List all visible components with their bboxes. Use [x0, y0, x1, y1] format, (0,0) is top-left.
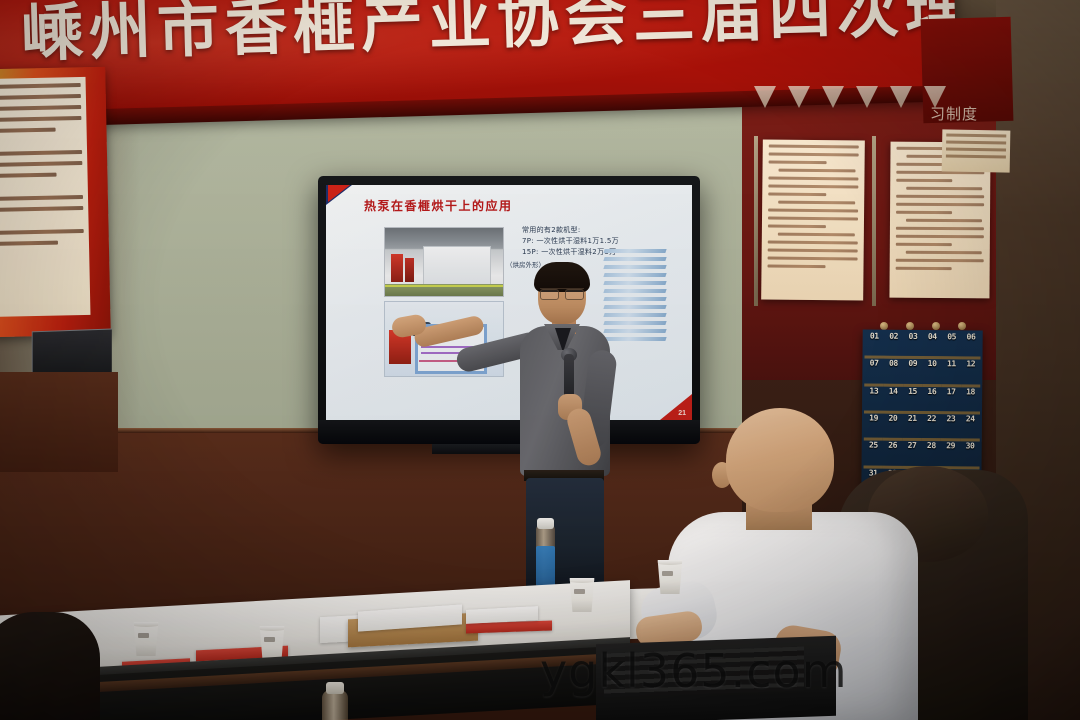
- pocket-slot[interactable]: 18: [961, 387, 981, 415]
- pocket-number: 14: [889, 386, 898, 395]
- poster-text-line: [768, 185, 858, 189]
- flag-shape: [754, 86, 776, 108]
- pocket-slot[interactable]: 01: [864, 331, 884, 358]
- pocket-number: 03: [909, 332, 918, 341]
- pocket-number: 13: [869, 386, 878, 395]
- pocket-number: 11: [947, 360, 956, 369]
- poster-text-line: [768, 249, 858, 253]
- pocket-number: 22: [927, 414, 936, 423]
- flag-shape: [856, 86, 878, 108]
- pocket-number: 07: [870, 359, 879, 368]
- audience-member-left: [0, 612, 100, 720]
- slide-corner-decor-red: [328, 185, 350, 202]
- poster-text-line: [896, 259, 984, 263]
- pocket-slot[interactable]: 11: [942, 359, 962, 386]
- pocket-number: 02: [889, 332, 898, 341]
- water-bottle-label: [536, 546, 555, 586]
- poster-text-line: [0, 195, 83, 201]
- presenter: [500, 258, 640, 588]
- pocket-slot[interactable]: 10: [922, 359, 942, 386]
- cup-logo: [264, 637, 275, 642]
- poster-note: [942, 129, 1011, 172]
- poster-text-line: [768, 225, 826, 229]
- pocket-number: 06: [967, 332, 976, 341]
- conference-room-photo: 嵊州市香榧产业协会三届四次理事（扩大）会 习制度: [0, 0, 1080, 720]
- pocket-number: 01: [870, 332, 879, 341]
- cup-logo: [138, 633, 149, 638]
- poster-text-line: [896, 243, 952, 246]
- pocket-slot[interactable]: 02: [884, 332, 904, 359]
- paper-cup: [568, 578, 596, 612]
- pocket-slot[interactable]: 24: [960, 414, 980, 441]
- glasses-icon: [540, 288, 584, 298]
- poster-text-line: [769, 161, 827, 165]
- cup-logo: [662, 571, 673, 576]
- poster-text-line: [768, 257, 858, 261]
- poster-text-line: [768, 209, 858, 213]
- poster-text-line: [779, 169, 856, 173]
- flag-shape: [890, 86, 912, 108]
- paper-cup: [132, 622, 160, 656]
- pocket-slot[interactable]: 17: [941, 387, 961, 415]
- poster-text-line: [0, 173, 56, 178]
- pocket-slot[interactable]: 06: [961, 332, 981, 359]
- poster-divider-mid: [872, 136, 876, 306]
- water-bottle-cap: [537, 518, 554, 529]
- poster-text-line: [768, 241, 858, 245]
- poster-text-line: [0, 105, 81, 111]
- poster-text-gap: [0, 183, 83, 193]
- paper-cup: [656, 560, 684, 594]
- pocket-slot[interactable]: 04: [922, 332, 942, 359]
- pocket-slot[interactable]: 07: [864, 359, 884, 386]
- slide-body-line: 7P: 一次性烘干湿料1万1.5万: [522, 236, 652, 247]
- cup-rim: [258, 626, 286, 631]
- watermark: ygkl365.com: [540, 644, 848, 698]
- poster-text-line: [0, 241, 58, 246]
- note-line: [946, 154, 1006, 158]
- water-bottle-foreground-cap: [326, 682, 344, 694]
- poster-text-line: [906, 187, 982, 191]
- poster-text-line: [896, 195, 984, 199]
- pocket-number: 08: [889, 359, 898, 368]
- poster-text-gap: [0, 217, 84, 227]
- pocket-slot[interactable]: 03: [903, 332, 923, 359]
- pocket-chart-hook: [932, 322, 940, 330]
- poster-text-line: [896, 203, 984, 207]
- paper-cup: [258, 626, 286, 660]
- poster-text-line: [896, 227, 984, 231]
- heat-pump-unit: [405, 258, 414, 282]
- poster-text-line: [896, 235, 984, 239]
- pocket-number: 23: [946, 414, 955, 423]
- poster-text-line: [896, 267, 952, 270]
- flag-shape: [788, 86, 810, 108]
- right-poster-1: [761, 139, 865, 300]
- water-bottle-foreground: [322, 690, 348, 720]
- cup-logo: [574, 589, 585, 594]
- flag-shape: [822, 86, 844, 108]
- left-poster-page: [0, 77, 90, 317]
- poster-text-gap: [0, 138, 82, 148]
- poster-text-line: [896, 211, 952, 214]
- pocket-number: 17: [947, 387, 956, 396]
- pocket-number: 18: [966, 387, 975, 396]
- slide-photo-drying-room-exterior: [384, 227, 504, 297]
- slide-body-line: 常用的有2款机型:: [522, 225, 652, 236]
- pocket-number: 24: [966, 414, 975, 423]
- pocket-chart-hook: [958, 322, 966, 330]
- poster-text-line: [769, 153, 859, 157]
- ground-line: [385, 285, 503, 287]
- cup-rim: [132, 622, 160, 627]
- pocket-slot[interactable]: 09: [903, 359, 923, 386]
- cup-rim: [568, 578, 596, 583]
- poster-text-line: [768, 193, 826, 197]
- audience-head: [726, 408, 834, 512]
- note-line: [946, 133, 1006, 137]
- poster-text-line: [0, 83, 81, 89]
- poster-text-line: [0, 94, 81, 100]
- pocket-number: 09: [908, 359, 917, 368]
- pocket-slot[interactable]: 30: [960, 442, 980, 469]
- rack-shelf: [603, 249, 666, 253]
- poster-text-line: [0, 229, 84, 235]
- poster-text-line: [778, 201, 855, 205]
- pocket-number: 05: [947, 332, 956, 341]
- poster-text-line: [0, 206, 83, 212]
- pocket-slot[interactable]: 08: [884, 359, 904, 386]
- pocket-number: 16: [927, 387, 936, 396]
- pocket-slot[interactable]: 12: [961, 360, 981, 387]
- pocket-number: 12: [966, 360, 975, 369]
- heat-pump-unit: [391, 254, 403, 282]
- poster-text-line: [0, 150, 82, 156]
- note-line: [946, 140, 1006, 144]
- podium: [0, 372, 118, 472]
- poster-text-line: [906, 219, 982, 223]
- poster-text-line: [0, 128, 55, 133]
- slide-title: 热泵在香榧烘干上的应用: [364, 197, 513, 214]
- poster-text-line: [0, 161, 82, 167]
- poster-text-line: [896, 179, 952, 182]
- bunting-flags: [748, 86, 1010, 112]
- poster-text-line: [769, 145, 859, 149]
- pocket-slot[interactable]: 29: [941, 441, 961, 468]
- note-line: [946, 147, 1006, 151]
- cup-rim: [656, 560, 684, 565]
- poster-text-line: [0, 116, 81, 122]
- pocket-slot[interactable]: 05: [942, 332, 962, 359]
- drying-room-body: [423, 246, 491, 288]
- poster-text-line: [778, 233, 855, 237]
- pocket-number: 28: [927, 441, 936, 450]
- pocket-chart-hook: [906, 322, 914, 330]
- poster-divider-left: [754, 136, 758, 306]
- flag-shape: [924, 86, 946, 108]
- pocket-number: 10: [928, 359, 937, 368]
- pocket-number: 04: [928, 332, 937, 341]
- pocket-number: 15: [908, 387, 917, 396]
- pocket-slot[interactable]: 23: [941, 414, 961, 441]
- poster-text-line: [768, 217, 858, 221]
- poster-text-line: [767, 265, 825, 269]
- pocket-number: 29: [946, 442, 955, 451]
- pocket-number: 30: [966, 442, 975, 451]
- poster-text-line: [906, 251, 982, 255]
- poster-text-line: [768, 177, 858, 181]
